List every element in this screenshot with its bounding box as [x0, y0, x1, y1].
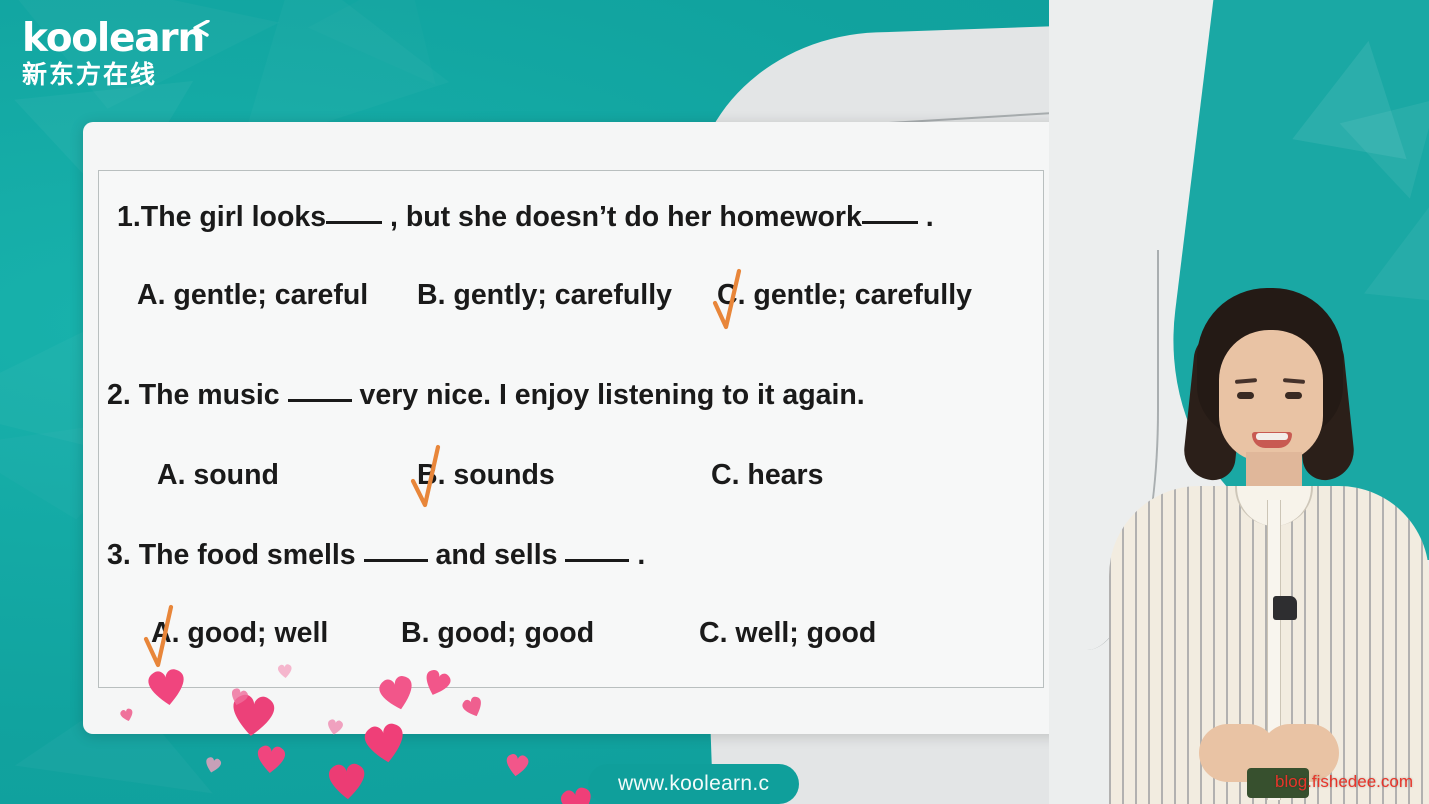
presenter-decor-triangle-3 [1364, 194, 1429, 306]
koolearn-tick-icon [190, 20, 210, 40]
question-2-stem: 2. The music very nice. I enjoy listenin… [107, 379, 865, 412]
option-text: gentle; carefully [753, 279, 972, 311]
footer-url-pill: www.koolearn.c [588, 764, 799, 804]
question-2-stem-part1: The music [139, 379, 280, 411]
question-3-option-b[interactable]: B. good; good [401, 617, 594, 650]
option-text: hears [747, 459, 823, 491]
question-1-option-b[interactable]: B. gently; carefully [417, 279, 672, 312]
option-text: gently; carefully [453, 279, 672, 311]
option-label: B. [417, 459, 446, 491]
heart-particle [276, 663, 294, 679]
option-text: gentle; careful [173, 279, 368, 311]
option-label: A. [151, 617, 180, 649]
presenter-eye-right [1285, 392, 1302, 399]
presenter-teeth [1256, 433, 1288, 440]
footer-url-text: www.koolearn.c [618, 772, 769, 796]
option-text: sounds [453, 459, 554, 491]
presenter-lapel-mic [1273, 596, 1297, 620]
question-3-option-c[interactable]: C. well; good [699, 617, 876, 650]
option-label: B. [417, 279, 446, 311]
question-1-option-c[interactable]: C. gentle; carefully [717, 279, 972, 312]
option-text: good; well [187, 617, 328, 649]
option-text: well; good [735, 617, 876, 649]
option-label: C. [711, 459, 740, 491]
heart-particle [324, 760, 370, 801]
question-2-option-b[interactable]: B. sounds [417, 459, 555, 492]
option-text: good; good [437, 617, 594, 649]
option-label: C. [699, 617, 728, 649]
question-1-stem-part1: The girl looks [141, 201, 326, 233]
question-3-stem-part3: . [637, 539, 645, 571]
question-2-option-c[interactable]: C. hears [711, 459, 823, 492]
question-2-option-a[interactable]: A. sound [157, 459, 279, 492]
option-label: B. [401, 617, 430, 649]
question-2-number: 2. [107, 379, 131, 411]
question-3-stem: 3. The food smells and sells . [107, 539, 645, 572]
question-1-stem-part3: . [926, 201, 934, 233]
question-3-blank-2 [565, 542, 629, 562]
video-frame: koolearn 新东方在线 1.The girl looks , but sh… [0, 0, 1429, 804]
presenter-video [1049, 0, 1429, 804]
question-2-blank-1 [288, 382, 352, 402]
question-1-stem: 1.The girl looks , but she doesn’t do he… [117, 201, 934, 234]
question-3-option-a[interactable]: A. good; well [151, 617, 328, 650]
option-label: A. [157, 459, 186, 491]
question-1-blank-1 [326, 204, 382, 224]
question-1-option-a[interactable]: A. gentle; careful [137, 279, 368, 312]
heart-particle [253, 743, 289, 776]
question-1-number: 1. [117, 201, 141, 233]
question-1-blank-2 [862, 204, 918, 224]
watermark: blog.fishedee.com [1275, 772, 1413, 792]
option-label: C. [717, 279, 746, 311]
question-3-stem-part1: The food smells [139, 539, 356, 571]
logo-text-cn: 新东方在线 [22, 60, 192, 89]
question-panel: 1.The girl looks , but she doesn’t do he… [98, 170, 1044, 688]
logo-text-en: koolearn [22, 18, 204, 60]
heart-particle [324, 717, 345, 736]
question-3-number: 3. [107, 539, 131, 571]
heart-particle [142, 665, 191, 710]
question-3-blank-1 [364, 542, 428, 562]
question-2-stem-part2: very nice. I enjoy listening to it again… [360, 379, 865, 411]
heart-particle [502, 751, 532, 779]
presenter-eye-left [1237, 392, 1254, 399]
option-text: sound [193, 459, 279, 491]
question-3-stem-part2: and sells [436, 539, 558, 571]
option-label: A. [137, 279, 166, 311]
koolearn-logo: koolearn 新东方在线 [22, 18, 192, 90]
question-1-stem-part2: , but she doesn’t do her homework [390, 201, 862, 233]
